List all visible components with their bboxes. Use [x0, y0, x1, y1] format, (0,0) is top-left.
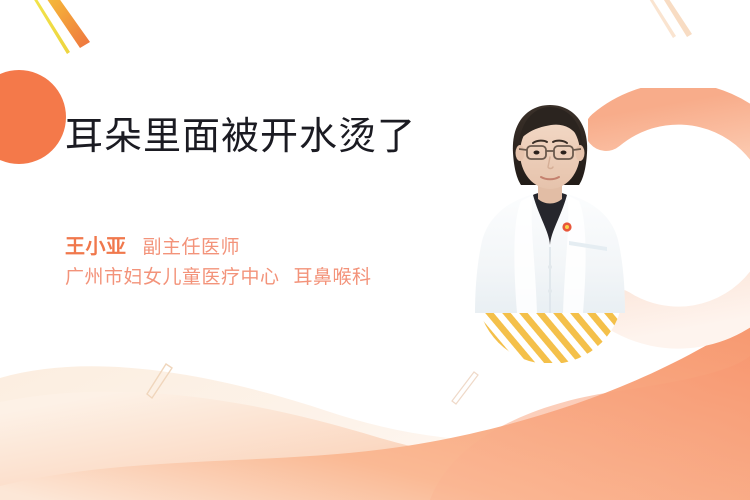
- wave-peach: [0, 392, 750, 500]
- doctor-portrait-photo: [455, 95, 645, 363]
- page-title: 耳朵里面被开水烫了: [65, 112, 465, 162]
- doctor-department: 耳鼻喉科: [294, 263, 372, 293]
- doctor-affiliation-row: 广州市妇女儿童医疗中心 耳鼻喉科: [65, 263, 465, 293]
- wave-cream: [0, 366, 750, 500]
- doctor-title: 副主任医师: [143, 233, 241, 263]
- orange-circle-accent: [0, 70, 66, 164]
- text-block: 耳朵里面被开水烫了 王小亚 副主任医师 广州市妇女儿童医疗中心 耳鼻喉科: [65, 112, 465, 293]
- doctor-video-cover-card: 耳朵里面被开水烫了 王小亚 副主任医师 广州市妇女儿童医疗中心 耳鼻喉科: [0, 0, 750, 500]
- doctor-hospital: 广州市妇女儿童医疗中心: [65, 263, 280, 293]
- diagonal-stripes-top-left: [22, 0, 132, 56]
- stripe-faint-accent: [440, 370, 490, 410]
- stripe-thin-yellow: [22, 0, 70, 54]
- wave-salmon-lobe: [430, 356, 750, 500]
- stripe-outline-accent: [140, 362, 180, 402]
- stripe-thick-orange: [34, 0, 90, 48]
- doctor-meta: 王小亚 副主任医师 广州市妇女儿童医疗中心 耳鼻喉科: [65, 232, 465, 293]
- doctor-name-row: 王小亚 副主任医师: [65, 232, 465, 263]
- diagonal-stripes-top-right: [636, 0, 716, 40]
- stripe-pale-a: [654, 0, 692, 37]
- lapel-badge-pin: [562, 222, 571, 231]
- doctor-head: [513, 105, 587, 189]
- doctor-name: 王小亚: [65, 232, 127, 262]
- doctor-body: [475, 191, 625, 313]
- stripe-pale-b: [640, 0, 676, 38]
